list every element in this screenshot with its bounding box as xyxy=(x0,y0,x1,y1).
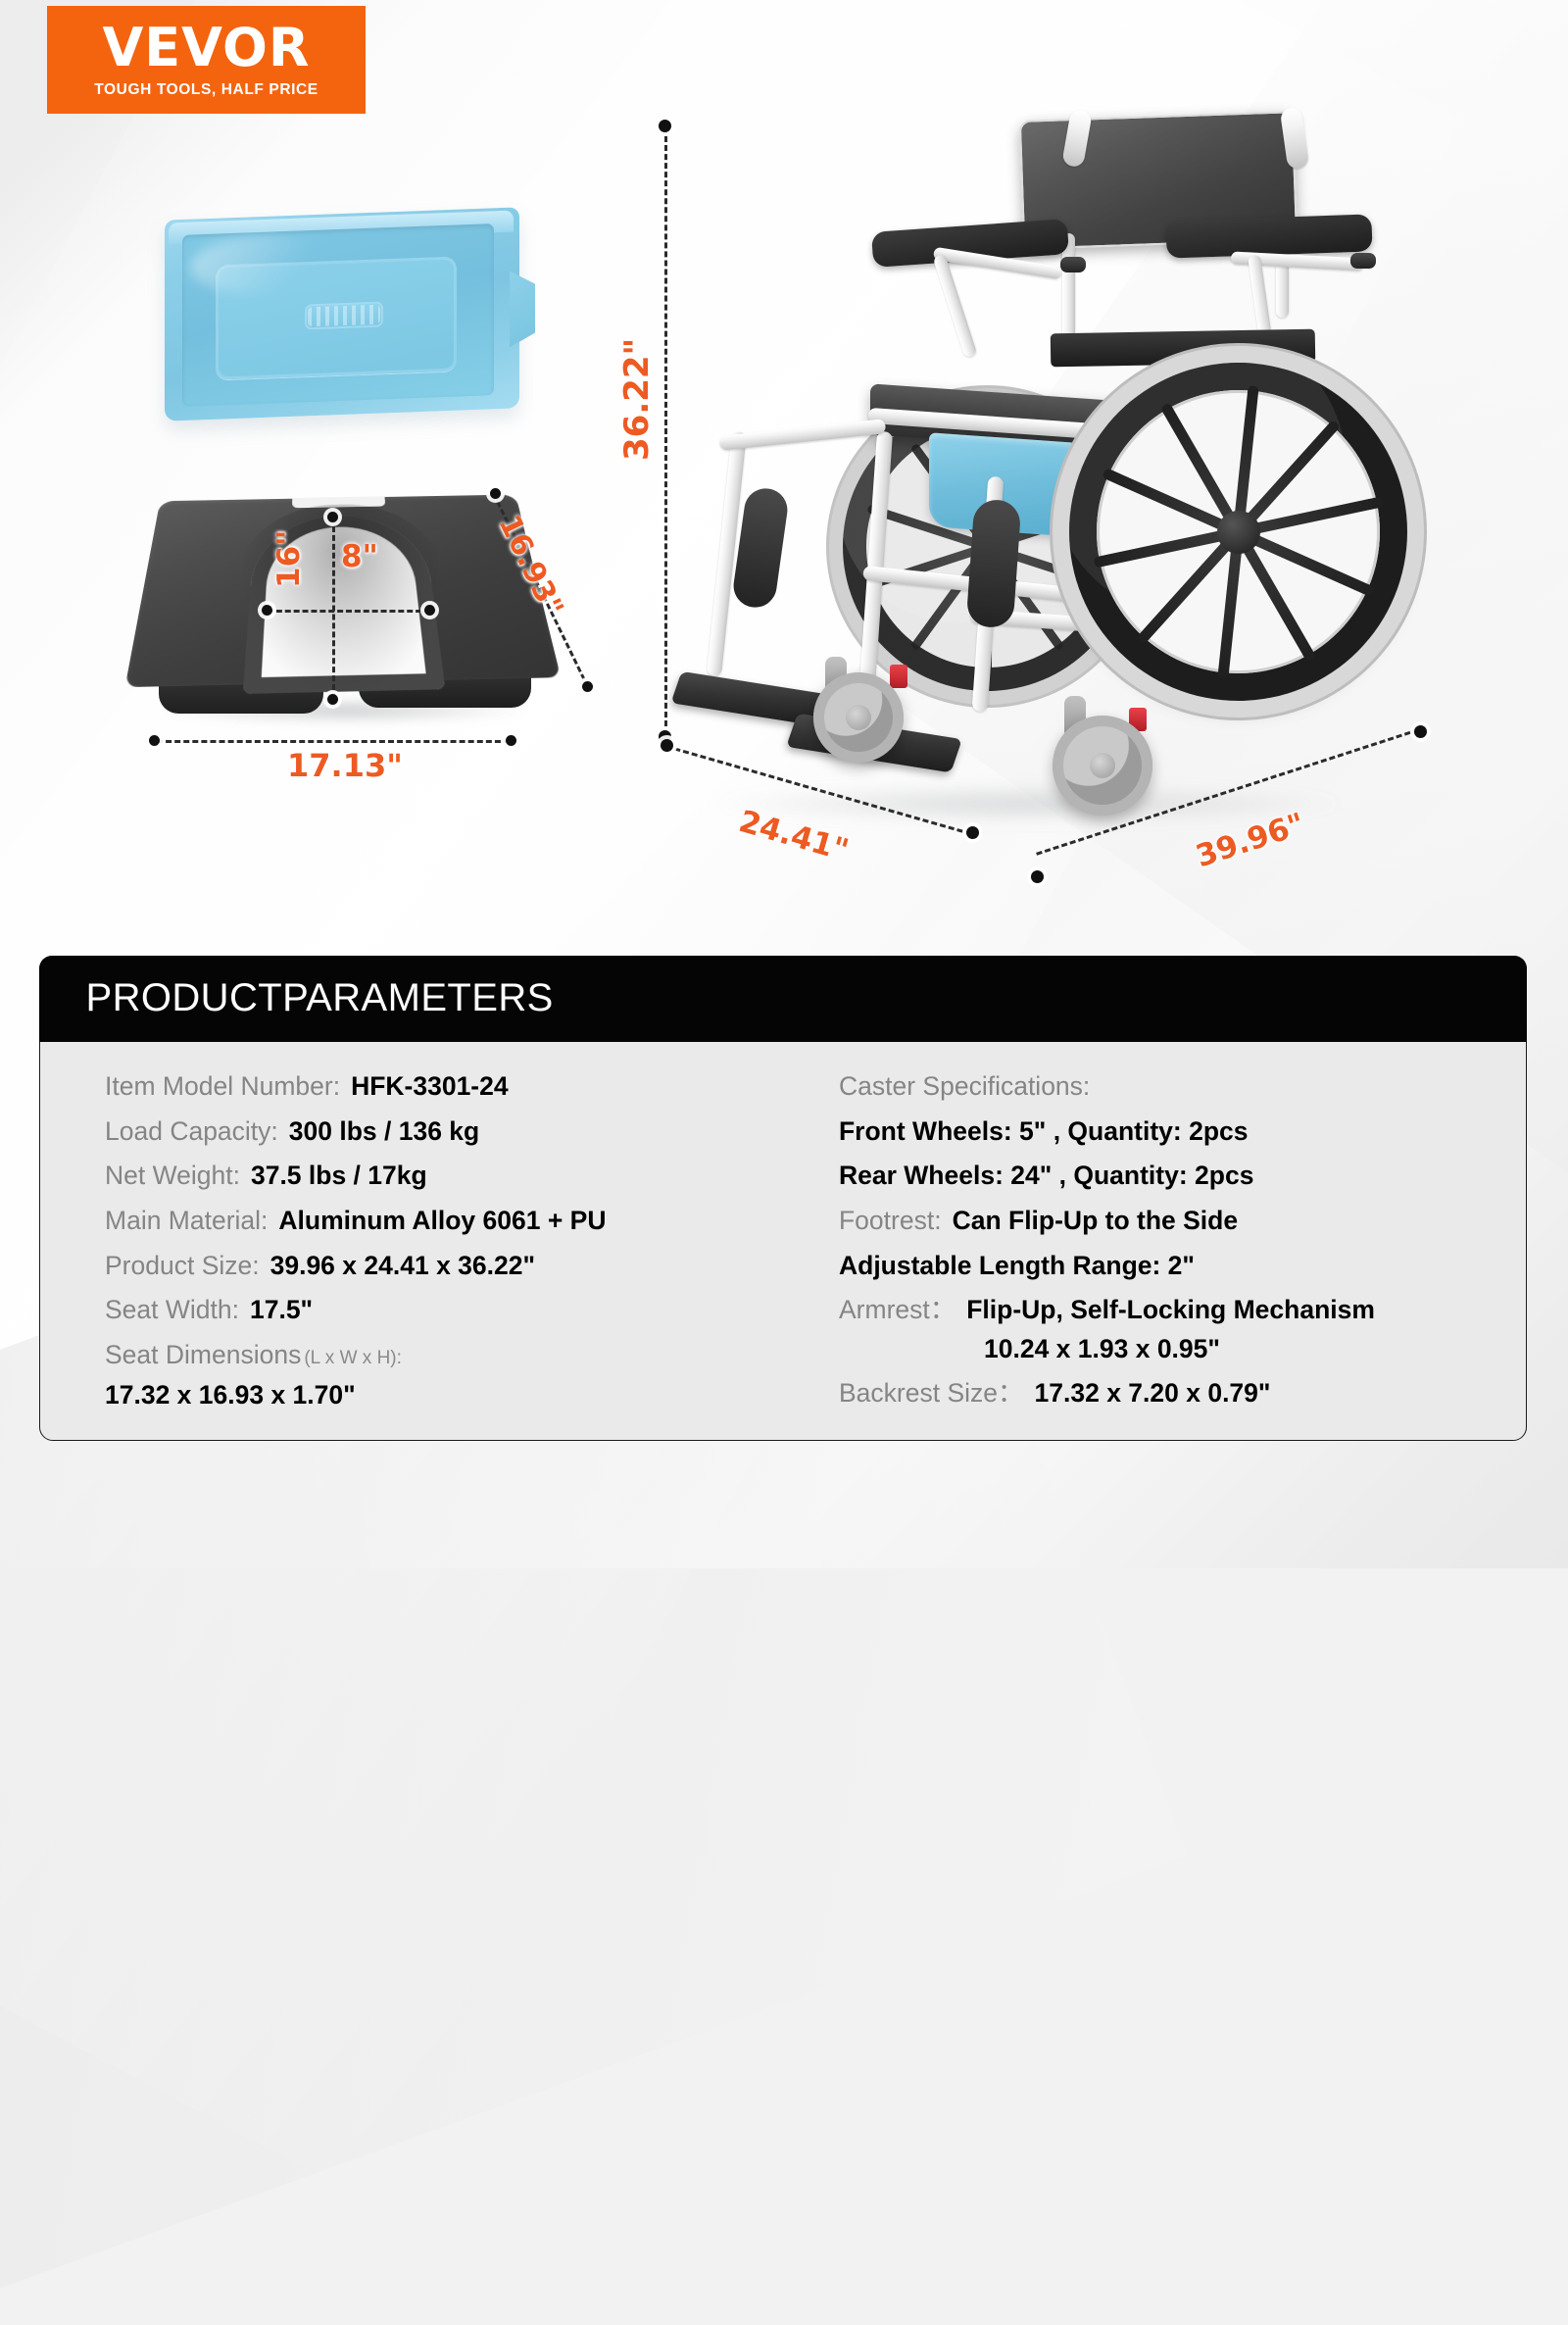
spec-label: Net Weight: xyxy=(105,1158,240,1195)
spec-value: Can Flip-Up to the Side xyxy=(953,1203,1239,1240)
cushion-side-depth-dot-bottom xyxy=(582,681,593,692)
chair-height-line xyxy=(664,127,667,735)
product-parameters-panel: PRODUCTPARAMETERS Item Model Number: HFK… xyxy=(39,956,1527,1441)
spec-label: Seat Dimensions xyxy=(105,1340,301,1369)
spec-value: 39.96 x 24.41 x 36.22" xyxy=(270,1248,535,1285)
spec-row-seat-dimensions: Seat Dimensions(L x W x H): 17.32 x 16.9… xyxy=(105,1337,774,1414)
page-title: PRODUCTPARAMETERS xyxy=(86,976,554,1020)
caster-brake-left xyxy=(890,665,907,688)
spec-label: Armrest： xyxy=(839,1295,955,1324)
spec-label: Rear Wheels: 24" , Quantity: 2pcs xyxy=(839,1158,1253,1195)
spec-row: Rear Wheels: 24" , Quantity: 2pcs xyxy=(839,1158,1508,1195)
cushion-rear-notch xyxy=(292,496,385,508)
cushion-hole-width-dot-right xyxy=(424,605,435,616)
spec-value: 17.32 x 16.93 x 1.70" xyxy=(105,1377,774,1414)
seat-cushion-image xyxy=(145,470,537,716)
cushion-hole-depth-dot-top xyxy=(327,512,338,522)
brand-name: VEVOR xyxy=(102,22,310,74)
front-caster-left xyxy=(813,672,904,763)
spec-value: 37.5 lbs / 17kg xyxy=(251,1158,427,1195)
cushion-front-width-label: 17.13" xyxy=(287,747,403,784)
spec-row: Main Material: Aluminum Alloy 6061 + PU xyxy=(105,1203,774,1240)
spec-label: Caster Specifications: xyxy=(839,1068,1090,1106)
legrest-grip-right xyxy=(966,498,1022,628)
chair-depth-dot-right xyxy=(966,826,979,839)
legrest-grip-left xyxy=(731,486,791,611)
cushion-front-width-line xyxy=(157,740,510,743)
spec-row: Product Size: 39.96 x 24.41 x 36.22" xyxy=(105,1248,774,1285)
cushion-hole-depth-label: 16" xyxy=(271,530,307,588)
rear-wheel-near xyxy=(1069,363,1407,701)
chair-height-dot-top xyxy=(659,120,671,132)
spec-label: Product Size: xyxy=(105,1248,260,1285)
chair-drop-shadow xyxy=(706,784,1352,823)
vevor-logo: VEVOR TOUGH TOOLS, HALF PRICE xyxy=(47,6,366,114)
legrest-top-bar xyxy=(719,419,887,451)
spec-column-right: Caster Specifications: Front Wheels: 5" … xyxy=(792,1068,1526,1440)
spec-value: 17.32 x 7.20 x 0.79" xyxy=(1035,1375,1271,1412)
armrest-pad-right xyxy=(1165,214,1372,258)
cushion-hole-width-line xyxy=(268,610,430,613)
spec-label: Backrest Size： xyxy=(839,1375,1024,1412)
cushion-front-width-dot-left xyxy=(149,735,160,746)
armrest-lock-right xyxy=(1350,253,1376,269)
brand-tagline: TOUGH TOOLS, HALF PRICE xyxy=(94,81,318,99)
cushion-side-depth-dot-top xyxy=(490,488,501,499)
cushion-front-width-dot-right xyxy=(506,735,516,746)
spec-row: Footrest: Can Flip-Up to the Side xyxy=(839,1203,1508,1240)
spec-label: Seat Width: xyxy=(105,1292,239,1329)
spec-row: Net Weight: 37.5 lbs / 17kg xyxy=(105,1158,774,1195)
spec-row: Seat Width: 17.5" xyxy=(105,1292,774,1329)
back-support-belt xyxy=(1051,329,1316,368)
spec-label: Footrest: xyxy=(839,1203,942,1240)
cushion-hole-width-dot-left xyxy=(262,605,272,616)
chair-depth-dot-left xyxy=(661,739,673,752)
spec-label-sub: (L x W x H): xyxy=(304,1348,402,1368)
bucket-handle-grip xyxy=(305,301,383,329)
cushion-hole-width-label: 8" xyxy=(341,539,378,574)
spec-row: Item Model Number: HFK-3301-24 xyxy=(105,1068,774,1106)
spec-label: Load Capacity: xyxy=(105,1113,278,1151)
cushion-hole-depth-line xyxy=(332,518,335,699)
spec-value-armrest-size: 10.24 x 1.93 x 0.95" xyxy=(984,1331,1508,1368)
spec-row: Backrest Size： 17.32 x 7.20 x 0.79" xyxy=(839,1375,1508,1412)
chair-height-label: 36.22" xyxy=(617,338,657,461)
panel-header-bar: PRODUCTPARAMETERS xyxy=(39,956,1527,1042)
spec-row: Front Wheels: 5" , Quantity: 2pcs xyxy=(839,1113,1508,1151)
spec-column-left: Item Model Number: HFK-3301-24 Load Capa… xyxy=(40,1068,792,1440)
spec-row-armrest: Armrest：Flip-Up, Self-Locking Mechanism … xyxy=(839,1292,1508,1367)
spec-row: Adjustable Length Range: 2" xyxy=(839,1248,1508,1285)
front-caster-right xyxy=(1053,716,1152,816)
panel-body: Item Model Number: HFK-3301-24 Load Capa… xyxy=(40,1043,1526,1440)
chair-length-dot-right xyxy=(1414,725,1427,738)
wheelchair-product-image xyxy=(676,108,1401,833)
spec-label: Item Model Number: xyxy=(105,1068,340,1106)
spec-label: Front Wheels: 5" , Quantity: 2pcs xyxy=(839,1113,1248,1151)
spec-value: HFK-3301-24 xyxy=(351,1068,509,1106)
chair-length-dot-left xyxy=(1031,870,1044,883)
spec-value: Aluminum Alloy 6061 + PU xyxy=(278,1203,606,1240)
commode-bucket-lid-image xyxy=(165,214,519,415)
spec-row: Caster Specifications: xyxy=(839,1068,1508,1106)
cushion-hole-depth-dot-bottom xyxy=(327,694,338,705)
spec-value: Flip-Up, Self-Locking Mechanism xyxy=(966,1295,1375,1324)
spec-label: Main Material: xyxy=(105,1203,268,1240)
spec-value: 300 lbs / 136 kg xyxy=(289,1113,479,1151)
spec-row: Load Capacity: 300 lbs / 136 kg xyxy=(105,1113,774,1151)
spec-value: 17.5" xyxy=(250,1292,313,1329)
armrest-post-left xyxy=(933,254,978,359)
armrest-lock-left xyxy=(1060,257,1086,272)
spec-label: Adjustable Length Range: 2" xyxy=(839,1248,1195,1285)
rear-wheel-hub xyxy=(1217,511,1260,554)
